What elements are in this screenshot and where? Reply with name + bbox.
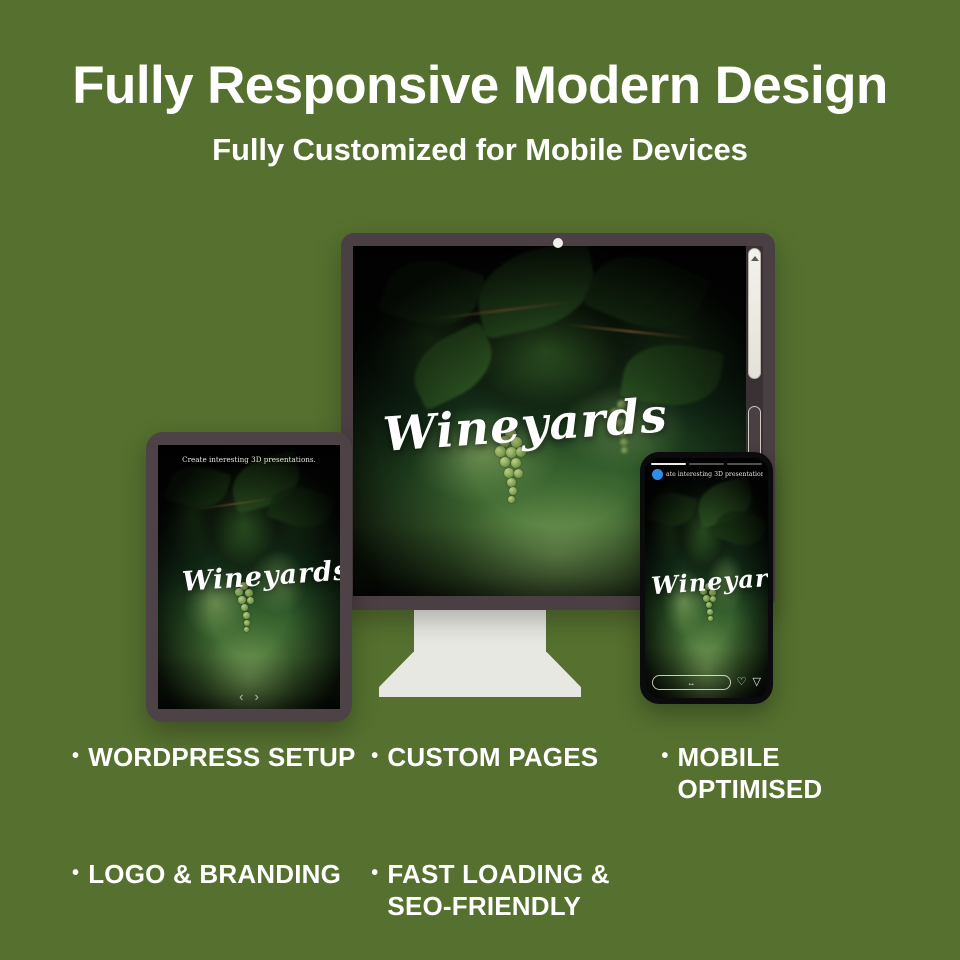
avatar[interactable] [652,469,663,480]
heading-block: Fully Responsive Modern Design Fully Cus… [0,58,960,168]
phone-tagline: ate interesting 3D presentations. [666,471,763,478]
feature-item: • MOBILE OPTIMISED [661,742,888,805]
send-icon[interactable]: ▽ [753,677,761,688]
webcam-icon [553,238,563,248]
story-segment[interactable] [689,463,724,465]
feature-label: WORDPRESS SETUP [88,742,355,774]
carousel-next-icon[interactable]: › [255,690,259,703]
page-subtitle: Fully Customized for Mobile Devices [0,132,960,168]
heart-icon[interactable]: ♡ [737,677,747,688]
page-title: Fully Responsive Modern Design [0,58,960,114]
feature-label: MOBILE OPTIMISED [678,742,888,805]
tablet-screen: Create interesting 3D presentations. Win… [158,445,340,709]
feature-item: • LOGO & BRANDING [72,859,371,922]
story-header: ate interesting 3D presentations. [652,469,763,480]
monitor-neck [414,607,546,655]
phone-screen: ate interesting 3D presentations. Wineya… [645,458,768,698]
story-segment[interactable] [727,463,762,465]
carousel-prev-icon[interactable]: ‹ [239,690,243,703]
feature-label: LOGO & BRANDING [88,859,341,891]
tablet-device: Create interesting 3D presentations. Win… [146,432,352,722]
feature-item: • CUSTOM PAGES [371,742,661,805]
tablet-carousel-nav: ‹ › [158,690,340,703]
story-footer: ↔ ♡ ▽ [652,675,761,690]
feature-label: FAST LOADING & SEO-FRIENDLY [387,859,661,922]
tablet-tagline: Create interesting 3D presentations. [182,455,316,464]
bullet-icon: • [661,742,668,771]
story-segment[interactable] [651,463,686,465]
feature-list: • WORDPRESS SETUP • CUSTOM PAGES • MOBIL… [0,742,960,923]
swipe-arrows-icon: ↔ [687,679,695,687]
responsive-design-poster: Fully Responsive Modern Design Fully Cus… [0,0,960,960]
feature-item: • FAST LOADING & SEO-FRIENDLY [371,859,661,922]
scrollbar-thumb[interactable] [748,248,761,379]
reply-input[interactable]: ↔ [652,675,731,690]
feature-item-empty [661,859,888,922]
chevron-up-icon[interactable] [751,256,759,261]
bullet-icon: • [371,859,378,888]
bullet-icon: • [371,742,378,771]
feature-item: • WORDPRESS SETUP [72,742,371,805]
feature-label: CUSTOM PAGES [387,742,598,774]
bullet-icon: • [72,859,79,888]
bullet-icon: • [72,742,79,771]
feature-row-2: • LOGO & BRANDING • FAST LOADING & SEO-F… [0,859,960,922]
monitor-base [379,652,581,697]
phone-device: ate interesting 3D presentations. Wineya… [640,452,773,704]
story-progress-bars[interactable] [651,463,762,465]
feature-row-1: • WORDPRESS SETUP • CUSTOM PAGES • MOBIL… [0,742,960,805]
